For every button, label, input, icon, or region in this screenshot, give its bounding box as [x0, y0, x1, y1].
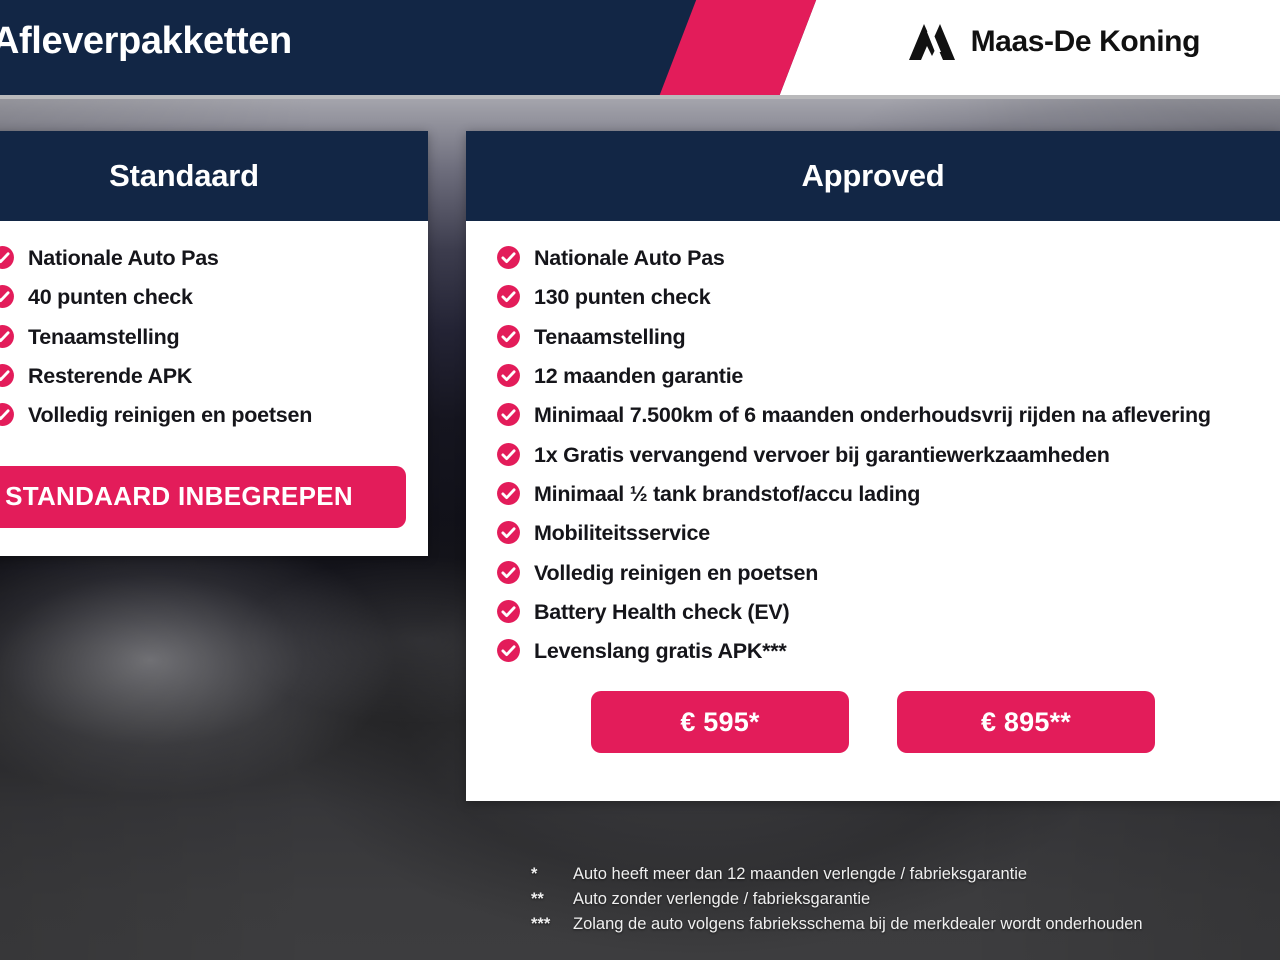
feature-item: Nationale Auto Pas	[496, 243, 1258, 273]
feature-list-approved: Nationale Auto Pas130 punten checkTenaam…	[466, 243, 1280, 666]
check-circle-icon	[0, 361, 15, 388]
feature-label: 12 maanden garantie	[534, 361, 743, 391]
package-card-standaard: Standaard Nationale Auto Pas40 punten ch…	[0, 131, 428, 556]
feature-item: Minimaal ½ tank brandstof/accu lading	[496, 479, 1258, 509]
check-circle-icon	[496, 361, 521, 388]
footnote-text: Auto zonder verlengde / fabrieksgarantie	[573, 887, 870, 912]
check-circle-icon	[496, 440, 521, 467]
price-button-row: € 595*€ 895**	[466, 675, 1280, 779]
feature-item: Volledig reinigen en poetsen	[496, 558, 1258, 588]
footnote-row: *Auto heeft meer dan 12 maanden verlengd…	[531, 862, 1271, 887]
check-circle-icon	[0, 400, 15, 427]
feature-label: 40 punten check	[28, 282, 193, 312]
footnote-row: **Auto zonder verlengde / fabrieksgarant…	[531, 887, 1271, 912]
check-circle-icon	[496, 243, 521, 270]
maas-de-koning-m-logo-icon	[907, 22, 957, 62]
feature-label: 130 punten check	[534, 282, 710, 312]
feature-list-standaard: Nationale Auto Pas40 punten checkTenaams…	[0, 243, 428, 431]
footnote-marker: ***	[531, 912, 573, 937]
feature-item: Mobiliteitsservice	[496, 518, 1258, 548]
check-circle-icon	[496, 518, 521, 545]
feature-label: Volledig reinigen en poetsen	[534, 558, 818, 588]
card-title-approved: Approved	[801, 158, 944, 194]
feature-item: Volledig reinigen en poetsen	[0, 400, 408, 430]
feature-item: 130 punten check	[496, 282, 1258, 312]
feature-label: Resterende APK	[28, 361, 192, 391]
page-title: Afleverpakketten	[0, 20, 292, 63]
card-header-standaard: Standaard	[0, 131, 428, 221]
brand-lockup: Maas-De Koning	[907, 22, 1200, 62]
card-body-approved: Nationale Auto Pas130 punten checkTenaam…	[466, 221, 1280, 801]
feature-label: 1x Gratis vervangend vervoer bij garanti…	[534, 440, 1110, 470]
feature-label: Tenaamstelling	[28, 322, 179, 352]
page-header: Afleverpakketten Maas-De Koning	[0, 0, 1280, 95]
feature-item: 1x Gratis vervangend vervoer bij garanti…	[496, 440, 1258, 470]
footnote-text: Zolang de auto volgens fabrieksschema bi…	[573, 912, 1143, 937]
check-circle-icon	[496, 282, 521, 309]
footnote-marker: *	[531, 862, 573, 887]
price-button-2[interactable]: € 895**	[897, 691, 1155, 753]
brand-name: Maas-De Koning	[971, 25, 1200, 59]
check-circle-icon	[496, 558, 521, 585]
feature-item: 40 punten check	[0, 282, 408, 312]
feature-item: Resterende APK	[0, 361, 408, 391]
package-card-approved: Approved Nationale Auto Pas130 punten ch…	[466, 131, 1280, 801]
feature-label: Nationale Auto Pas	[534, 243, 725, 273]
check-circle-icon	[496, 400, 521, 427]
footnote-text: Auto heeft meer dan 12 maanden verlengde…	[573, 862, 1027, 887]
feature-label: Volledig reinigen en poetsen	[28, 400, 312, 430]
feature-item: Tenaamstelling	[0, 322, 408, 352]
footnote-marker: **	[531, 887, 573, 912]
feature-item: Tenaamstelling	[496, 322, 1258, 352]
feature-label: Mobiliteitsservice	[534, 518, 710, 548]
feature-item: Levenslang gratis APK***	[496, 636, 1258, 666]
check-circle-icon	[0, 282, 15, 309]
feature-label: Battery Health check (EV)	[534, 597, 789, 627]
feature-label: Levenslang gratis APK***	[534, 636, 786, 666]
footnotes: *Auto heeft meer dan 12 maanden verlengd…	[531, 862, 1271, 937]
feature-item: Nationale Auto Pas	[0, 243, 408, 273]
check-circle-icon	[0, 243, 15, 270]
check-circle-icon	[496, 597, 521, 624]
price-button-1[interactable]: € 595*	[591, 691, 849, 753]
check-circle-icon	[0, 322, 15, 349]
feature-item: 12 maanden garantie	[496, 361, 1258, 391]
feature-item: Battery Health check (EV)	[496, 597, 1258, 627]
card-title-standaard: Standaard	[109, 158, 259, 194]
check-circle-icon	[496, 636, 521, 663]
check-circle-icon	[496, 322, 521, 349]
standaard-included-badge: STANDAARD INBEGREPEN	[0, 466, 406, 528]
feature-label: Minimaal ½ tank brandstof/accu lading	[534, 479, 920, 509]
card-header-approved: Approved	[466, 131, 1280, 221]
feature-label: Nationale Auto Pas	[28, 243, 219, 273]
standaard-pill-wrap: STANDAARD INBEGREPEN	[0, 440, 428, 534]
card-body-standaard: Nationale Auto Pas40 punten checkTenaams…	[0, 221, 428, 556]
check-circle-icon	[496, 479, 521, 506]
feature-label: Tenaamstelling	[534, 322, 685, 352]
feature-label: Minimaal 7.500km of 6 maanden onderhouds…	[534, 400, 1211, 430]
footnote-row: ***Zolang de auto volgens fabrieksschema…	[531, 912, 1271, 937]
feature-item: Minimaal 7.500km of 6 maanden onderhouds…	[496, 400, 1258, 430]
header-underline	[0, 95, 1280, 99]
